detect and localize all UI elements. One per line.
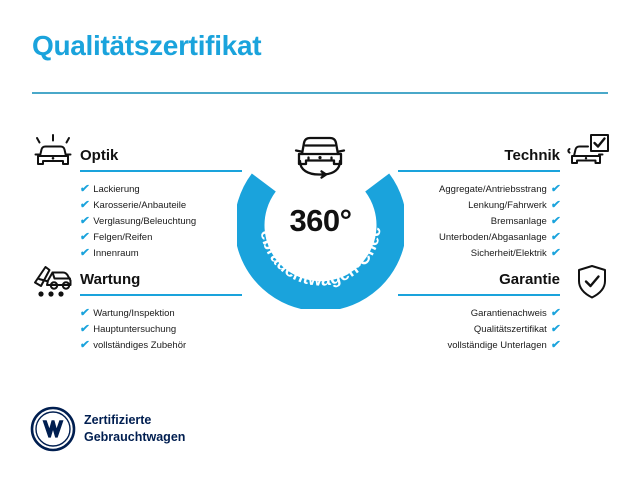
check-icon: ✔ [550,248,561,259]
check-icon: ✔ [550,340,561,351]
list-item-label: Garantienachweis [471,306,547,322]
list-item: vollständige Unterlagen ✔ [398,338,560,354]
footer-line-1: Zertifizierte [84,412,185,429]
check-icon: ✔ [79,200,90,211]
car-checkbox-icon [566,132,612,172]
checklist-technik: Aggregate/Antriebsstrang ✔ Lenkung/Fahrw… [398,182,560,262]
list-item-label: Aggregate/Antriebsstrang [439,182,547,198]
list-item-label: Unterboden/Abgasanlage [439,230,547,246]
list-item: Aggregate/Antriebsstrang ✔ [398,182,560,198]
section-divider-wartung [80,294,242,296]
list-item: ✔ Verglasung/Beleuchtung [80,214,242,230]
footer-line-2: Gebrauchtwagen [84,429,185,446]
check-icon: ✔ [550,184,561,195]
check-icon: ✔ [79,340,90,351]
check-icon: ✔ [79,324,90,335]
list-item: ✔ Felgen/Reifen [80,230,242,246]
checklist-wartung: ✔ Wartung/Inspektion ✔ Hauptuntersuchung… [80,306,242,354]
title-divider [32,92,608,94]
list-item-label: vollständige Unterlagen [447,338,546,354]
list-item: ✔ Karosserie/Anbauteile [80,198,242,214]
page-title: Qualitätszertifikat [32,32,261,60]
list-item: ✔ Lackierung [80,182,242,198]
section-title-wartung: Wartung [80,272,242,289]
list-item: ✔ Wartung/Inspektion [80,306,242,322]
checklist-optik: ✔ Lackierung ✔ Karosserie/Anbauteile ✔ V… [80,182,242,262]
list-item-label: Hauptuntersuchung [93,322,176,338]
list-item-label: vollständiges Zubehör [93,338,186,354]
list-item-label: Bremsanlage [491,214,547,230]
list-item: Qualitätszertifikat ✔ [398,322,560,338]
footer-brand-text: Zertifizierte Gebrauchtwagen [84,412,185,446]
check-icon: ✔ [79,216,90,227]
list-item-label: Sicherheit/Elektrik [471,246,547,262]
section-title-technik: Technik [398,148,560,165]
wrench-car-icon [30,260,76,300]
section-garantie: Garantie Garantienachweis ✔ Qualitätszer… [398,272,560,354]
check-icon: ✔ [550,308,561,319]
vw-roundel-icon [30,406,76,452]
list-item-label: Verglasung/Beleuchtung [93,214,196,230]
check-icon: ✔ [79,248,90,259]
list-item: Lenkung/Fahrwerk ✔ [398,198,560,214]
list-item: ✔ Innenraum [80,246,242,262]
shield-check-icon [570,262,616,302]
list-item: Bremsanlage ✔ [398,214,560,230]
check-icon: ✔ [79,232,90,243]
checklist-garantie: Garantienachweis ✔ Qualitätszertifikat ✔… [398,306,560,354]
list-item: Sicherheit/Elektrik ✔ [398,246,560,262]
list-item: ✔ vollständiges Zubehör [80,338,242,354]
section-divider-technik [398,170,560,172]
list-item: Unterboden/Abgasanlage ✔ [398,230,560,246]
check-icon: ✔ [79,184,90,195]
list-item-label: Lackierung [93,182,139,198]
check-icon: ✔ [550,232,561,243]
list-item-label: Innenraum [93,246,138,262]
section-technik: Technik Aggregate/Antriebsstrang ✔ Lenku… [398,148,560,262]
badge-degrees: 360° [237,205,404,236]
section-divider-optik [80,170,242,172]
list-item-label: Wartung/Inspektion [93,306,175,322]
list-item-label: Lenkung/Fahrwerk [468,198,547,214]
car-shine-icon [30,132,76,172]
section-divider-garantie [398,294,560,296]
qualitaetszertifikat-page: Qualitätszertifikat Optik ✔ Lackierung ✔… [0,0,640,480]
car-rotation-icon [285,128,355,180]
check-icon: ✔ [79,308,90,319]
list-item-label: Qualitätszertifikat [474,322,547,338]
section-wartung: Wartung ✔ Wartung/Inspektion ✔ Hauptunte… [80,272,242,354]
list-item: Garantienachweis ✔ [398,306,560,322]
check-icon: ✔ [550,324,561,335]
list-item-label: Karosserie/Anbauteile [93,198,186,214]
check-icon: ✔ [550,200,561,211]
section-title-garantie: Garantie [398,272,560,289]
section-title-optik: Optik [80,148,242,165]
list-item: ✔ Hauptuntersuchung [80,322,242,338]
list-item-label: Felgen/Reifen [93,230,152,246]
section-optik: Optik ✔ Lackierung ✔ Karosserie/Anbautei… [80,148,242,262]
check-icon: ✔ [550,216,561,227]
